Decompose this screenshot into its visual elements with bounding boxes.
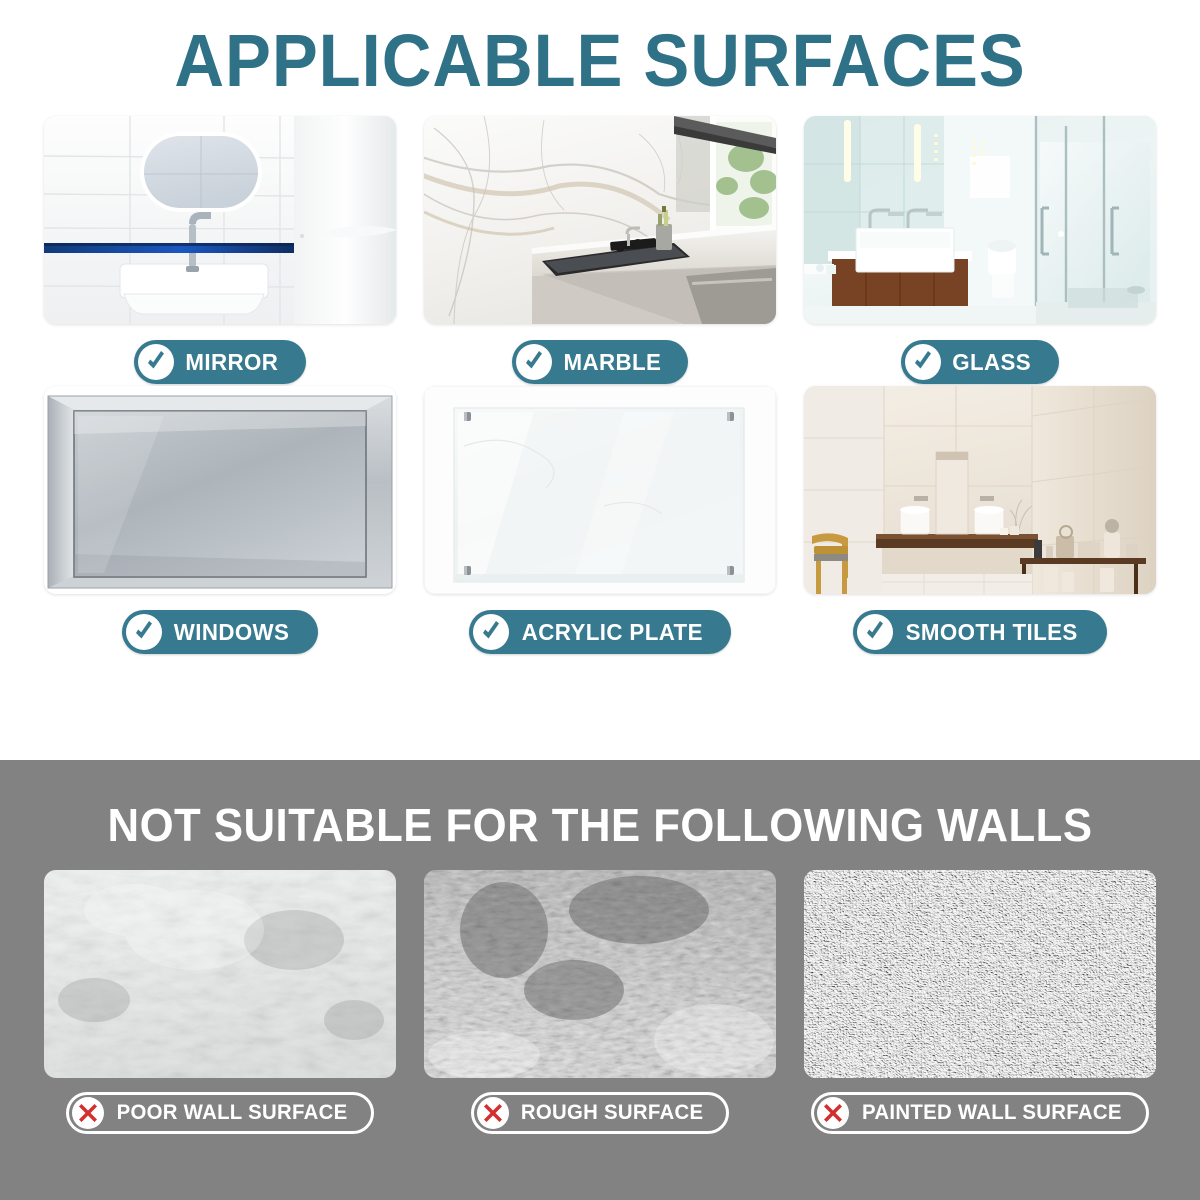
surface-card-smooth-tiles: SMOOTH TILES [790, 386, 1170, 656]
unsuitable-surfaces-grid: POOR WALL SURFACE [0, 870, 1200, 1136]
surface-badge-mirror[interactable]: MIRROR [134, 338, 306, 386]
check-icon [138, 344, 174, 380]
x-mark-icon [817, 1097, 849, 1129]
poor-wall-texture-photo [44, 870, 396, 1078]
surface-card-mirror: MIRROR [30, 116, 410, 386]
unsuitable-badge-rough-surface[interactable]: ROUGH SURFACE [471, 1090, 729, 1136]
not-suitable-title: NOT SUITABLE FOR THE FOLLOWING WALLS [30, 760, 1170, 848]
surface-badge-label: ACRYLIC PLATE [521, 619, 702, 646]
check-icon [516, 344, 552, 380]
surface-badge-label: SMOOTH TILES [906, 619, 1078, 646]
surface-badge-marble[interactable]: MARBLE [512, 338, 689, 386]
unsuitable-card-rough-surface: ROUGH SURFACE [410, 870, 790, 1136]
window-panel-photo [44, 386, 396, 594]
x-mark-icon [72, 1097, 104, 1129]
applicable-surfaces-section: APPLICABLE SURFACES [0, 0, 1200, 760]
unsuitable-badge-label: POOR WALL SURFACE [117, 1101, 348, 1125]
page-title: APPLICABLE SURFACES [42, 0, 1158, 98]
surface-badge-label: MIRROR [186, 349, 279, 376]
unsuitable-badge-painted-wall[interactable]: PAINTED WALL SURFACE [811, 1090, 1149, 1136]
unsuitable-badge-label: PAINTED WALL SURFACE [862, 1101, 1122, 1125]
check-icon [857, 614, 893, 650]
surface-card-acrylic-plate: ACRYLIC PLATE [410, 386, 790, 656]
surface-badge-smooth-tiles[interactable]: SMOOTH TILES [853, 608, 1106, 656]
surface-badge-windows[interactable]: WINDOWS [122, 608, 317, 656]
bathroom-mirror-photo [44, 116, 396, 324]
painted-wall-texture-photo [804, 870, 1156, 1078]
surface-badge-label: MARBLE [563, 349, 661, 376]
surface-card-marble: MARBLE [410, 116, 790, 386]
unsuitable-card-poor-wall: POOR WALL SURFACE [30, 870, 410, 1136]
rough-surface-texture-photo [424, 870, 776, 1078]
not-suitable-section: NOT SUITABLE FOR THE FOLLOWING WALLS [0, 760, 1200, 1200]
unsuitable-badge-poor-wall[interactable]: POOR WALL SURFACE [66, 1090, 374, 1136]
check-icon [473, 614, 509, 650]
surface-badge-label: GLASS [953, 349, 1032, 376]
applicable-surfaces-grid: MIRROR [0, 116, 1200, 656]
surface-badge-label: WINDOWS [174, 619, 289, 646]
unsuitable-card-painted-wall: PAINTED WALL SURFACE [790, 870, 1170, 1136]
unsuitable-badge-label: ROUGH SURFACE [521, 1101, 704, 1125]
smooth-tiles-photo [804, 386, 1156, 594]
check-icon [126, 614, 162, 650]
check-icon [905, 344, 941, 380]
marble-kitchen-photo [424, 116, 776, 324]
surface-badge-glass[interactable]: GLASS [901, 338, 1058, 386]
surface-badge-acrylic-plate[interactable]: ACRYLIC PLATE [469, 608, 732, 656]
acrylic-plate-photo [424, 386, 776, 594]
surface-card-glass: GLASS [790, 116, 1170, 386]
surface-card-windows: WINDOWS [30, 386, 410, 656]
glass-shower-photo [804, 116, 1156, 324]
x-mark-icon [477, 1097, 509, 1129]
